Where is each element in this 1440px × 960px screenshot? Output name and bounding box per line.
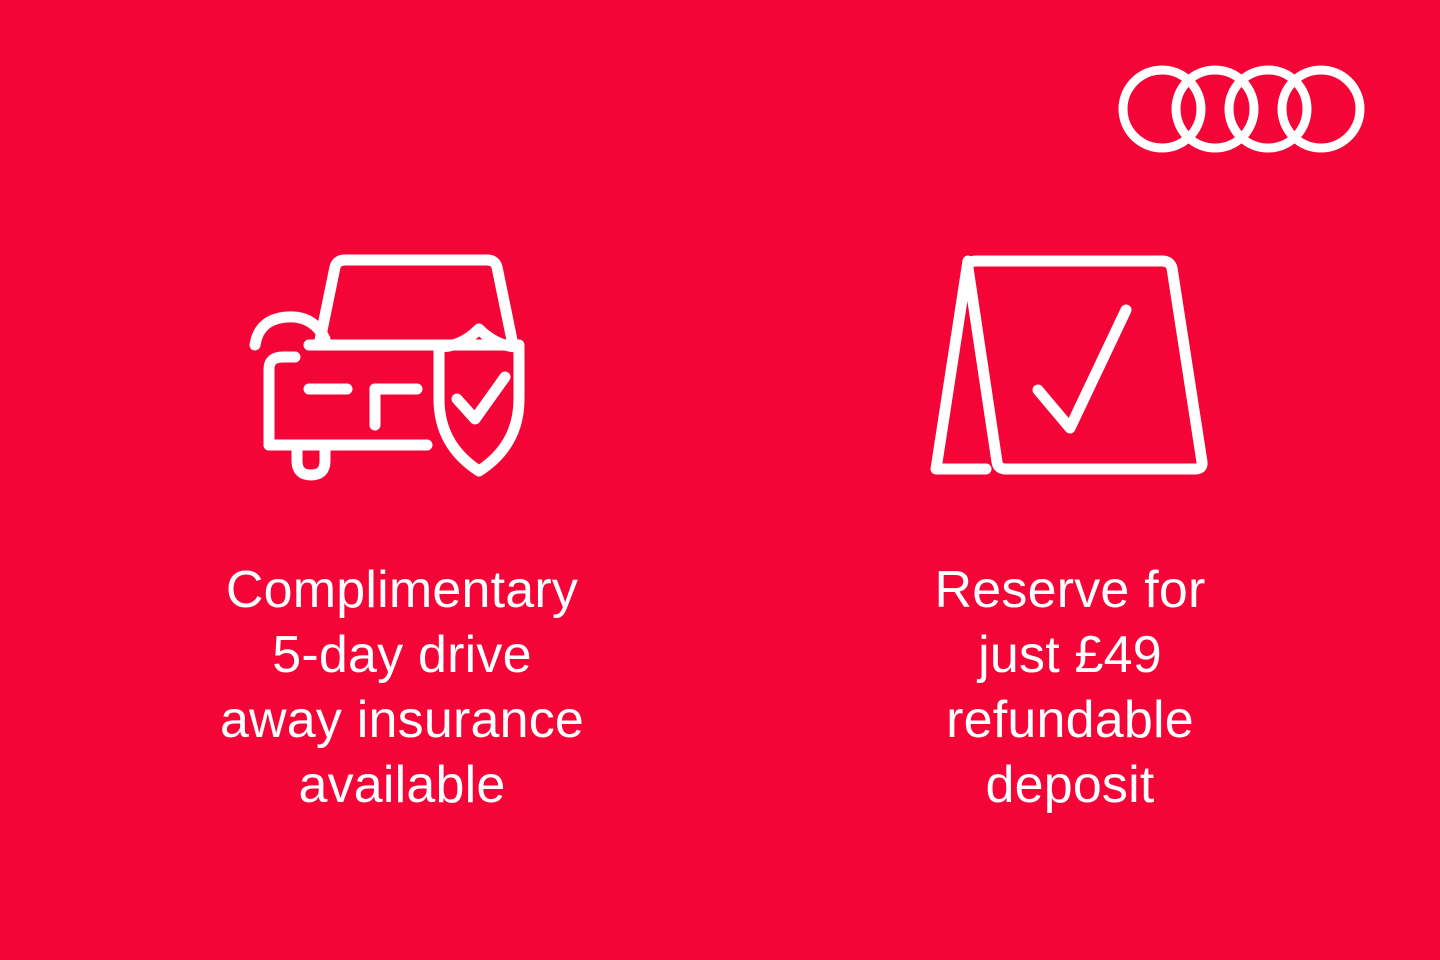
- feature-insurance: Complimentary 5-day drive away insurance…: [122, 240, 682, 818]
- feature-deposit: Reserve for just £49 refundable deposit: [790, 240, 1350, 818]
- folded-card-check-icon-wrap: [930, 240, 1210, 490]
- feature-insurance-caption: Complimentary 5-day drive away insurance…: [220, 558, 584, 818]
- promo-banner: Complimentary 5-day drive away insurance…: [0, 0, 1440, 960]
- feature-deposit-caption: Reserve for just £49 refundable deposit: [935, 558, 1206, 818]
- audi-logo: [1118, 62, 1372, 156]
- audi-four-rings-icon: [1118, 62, 1372, 156]
- car-with-shield-icon: [247, 249, 557, 481]
- folded-card-check-icon: [930, 250, 1210, 480]
- car-with-shield-icon-wrap: [247, 240, 557, 490]
